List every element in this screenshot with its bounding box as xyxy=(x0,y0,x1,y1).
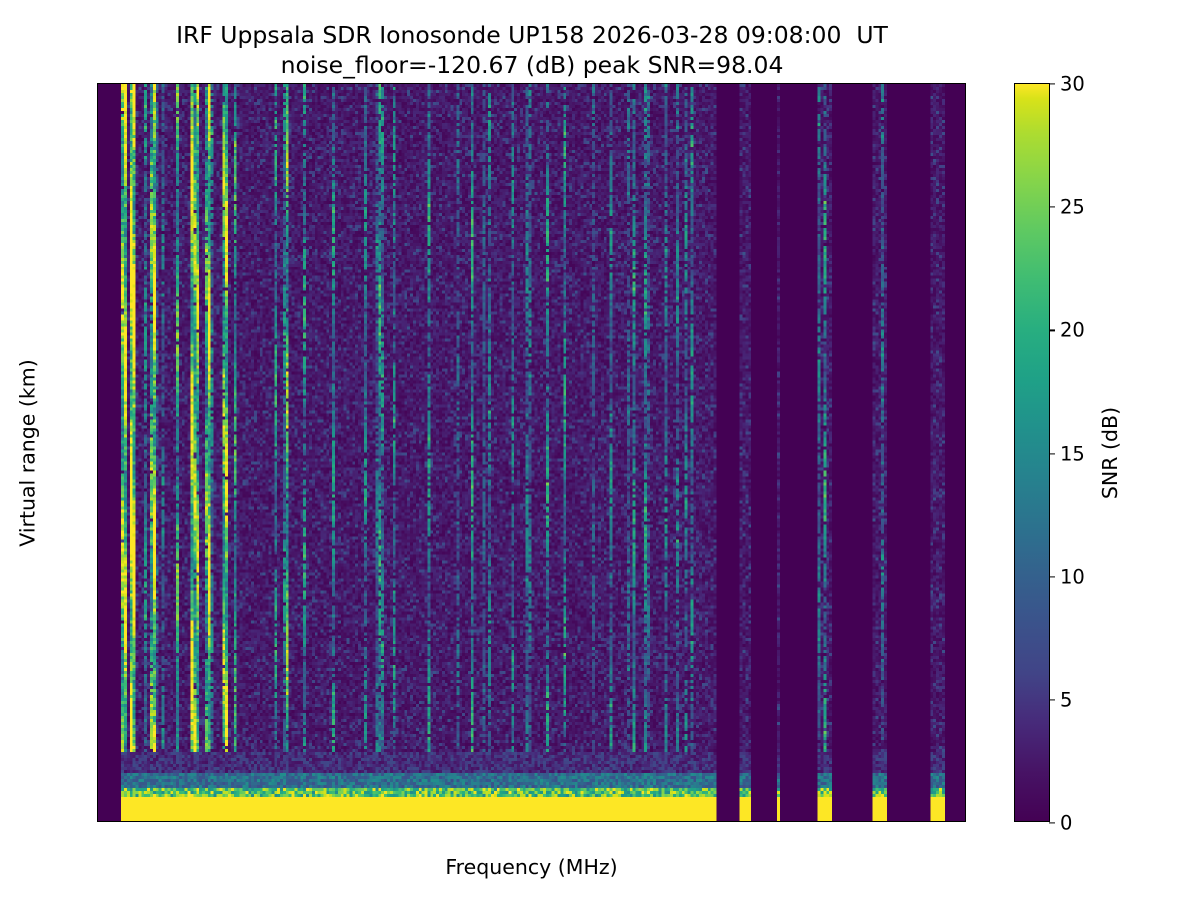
x-tick-mark xyxy=(934,821,935,822)
colorbar-tick-mark xyxy=(1049,576,1055,577)
colorbar-tick-mark xyxy=(1049,453,1055,454)
y-tick-label: 0 xyxy=(97,813,98,822)
colorbar: 051015202530 xyxy=(1014,83,1050,822)
y-tick-mark xyxy=(97,699,98,700)
x-tick-label: 4 xyxy=(279,821,291,822)
ionogram-heatmap xyxy=(98,84,965,821)
x-tick-label: 16 xyxy=(922,821,947,822)
y-tick-label: 600 xyxy=(97,83,98,94)
colorbar-label: SNR (dB) xyxy=(1095,83,1125,822)
y-tick-mark xyxy=(97,330,98,331)
x-tick-mark xyxy=(501,821,502,822)
x-tick-mark xyxy=(392,821,393,822)
y-tick-mark xyxy=(97,207,98,208)
x-tick-label: 14 xyxy=(814,821,839,822)
colorbar-tick-mark xyxy=(1049,822,1055,823)
colorbar-tick-mark xyxy=(1049,207,1055,208)
x-tick-mark xyxy=(609,821,610,822)
title-line-1: IRF Uppsala SDR Ionosonde UP158 2026-03-… xyxy=(0,20,1064,50)
x-tick-mark xyxy=(826,821,827,822)
x-tick-mark xyxy=(176,821,177,822)
x-tick-label: 12 xyxy=(706,821,731,822)
title-line-2: noise_floor=-120.67 (dB) peak SNR=98.04 xyxy=(0,50,1064,80)
x-tick-mark xyxy=(284,821,285,822)
colorbar-tick-mark xyxy=(1049,83,1055,84)
x-axis-label: Frequency (MHz) xyxy=(97,855,966,879)
ionogram-axes: 0100200300400500600246810121416 xyxy=(97,83,966,822)
x-tick-label: 6 xyxy=(387,821,399,822)
ionogram-canvas xyxy=(98,84,965,821)
colorbar-tick-mark xyxy=(1049,699,1055,700)
x-tick-mark xyxy=(717,821,718,822)
y-tick-mark xyxy=(97,83,98,84)
colorbar-tick-mark xyxy=(1049,330,1055,331)
y-axis-label: Virtual range (km) xyxy=(13,83,43,822)
ionogram-figure: IRF Uppsala SDR Ionosonde UP158 2026-03-… xyxy=(0,0,1200,900)
x-tick-label: 8 xyxy=(495,821,507,822)
y-tick-mark xyxy=(97,453,98,454)
x-tick-label: 2 xyxy=(170,821,182,822)
figure-title: IRF Uppsala SDR Ionosonde UP158 2026-03-… xyxy=(0,20,1064,80)
x-tick-label: 10 xyxy=(597,821,622,822)
y-tick-mark xyxy=(97,576,98,577)
